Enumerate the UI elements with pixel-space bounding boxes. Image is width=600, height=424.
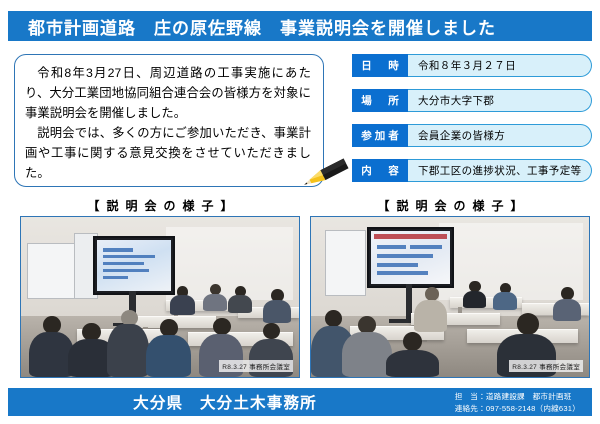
description-paragraph-2: 説明会では、多くの方にご参加いただき、事業計画や工事に関する意見交換をさせていた… [25,124,311,184]
photo-left: R8.3.27 事務所会議室 [20,216,300,378]
photo-right-scene [311,217,589,377]
footer-contact-phone: 連絡先：097-558-2148（内線631） [455,403,580,415]
photo-right: R8.3.27 事務所会議室 [310,216,590,378]
title-banner: 都市計画道路 庄の原佐野線 事業説明会を開催しました [8,11,592,41]
photo-timestamp: R8.3.27 事務所会議室 [219,360,293,372]
info-row: 参加者 会員企業の皆様方 [352,124,592,147]
description-box: 令和8年3月27日、周辺道路の工事実施にあたり、大分工業団地協同組合連合会の皆様… [14,54,324,187]
info-label: 参加者 [352,124,408,147]
page-title: 都市計画道路 庄の原佐野線 事業説明会を開催しました [8,14,496,39]
info-row: 内 容 下郡工区の進捗状況、工事予定等 [352,159,592,182]
footer-contact: 担 当：道路建設課 都市計画班 連絡先：097-558-2148（内線631） [455,391,580,416]
info-label: 内 容 [352,159,408,182]
info-row: 場 所 大分市大字下郡 [352,89,592,112]
info-value: 令和８年３月２７日 [408,54,592,77]
info-value: 大分市大字下郡 [408,89,592,112]
info-list: 日 時 令和８年３月２７日 場 所 大分市大字下郡 参加者 会員企業の皆様方 内… [352,54,592,182]
info-value: 下郡工区の進捗状況、工事予定等 [408,159,592,182]
info-label: 場 所 [352,89,408,112]
photo-caption-left: 【説明会の様子】 [20,197,300,213]
footer-contact-person: 担 当：道路建設課 都市計画班 [455,391,580,403]
photo-caption-right: 【説明会の様子】 [310,197,590,213]
info-row: 日 時 令和８年３月２７日 [352,54,592,77]
info-label: 日 時 [352,54,408,77]
photo-left-scene [21,217,299,377]
info-value: 会員企業の皆様方 [408,124,592,147]
description-paragraph-1: 令和8年3月27日、周辺道路の工事実施にあたり、大分工業団地協同組合連合会の皆様… [25,64,311,124]
footer-banner: 大分県 大分土木事務所 担 当：道路建設課 都市計画班 連絡先：097-558-… [8,388,592,416]
photo-timestamp: R8.3.27 事務所会議室 [509,360,583,372]
